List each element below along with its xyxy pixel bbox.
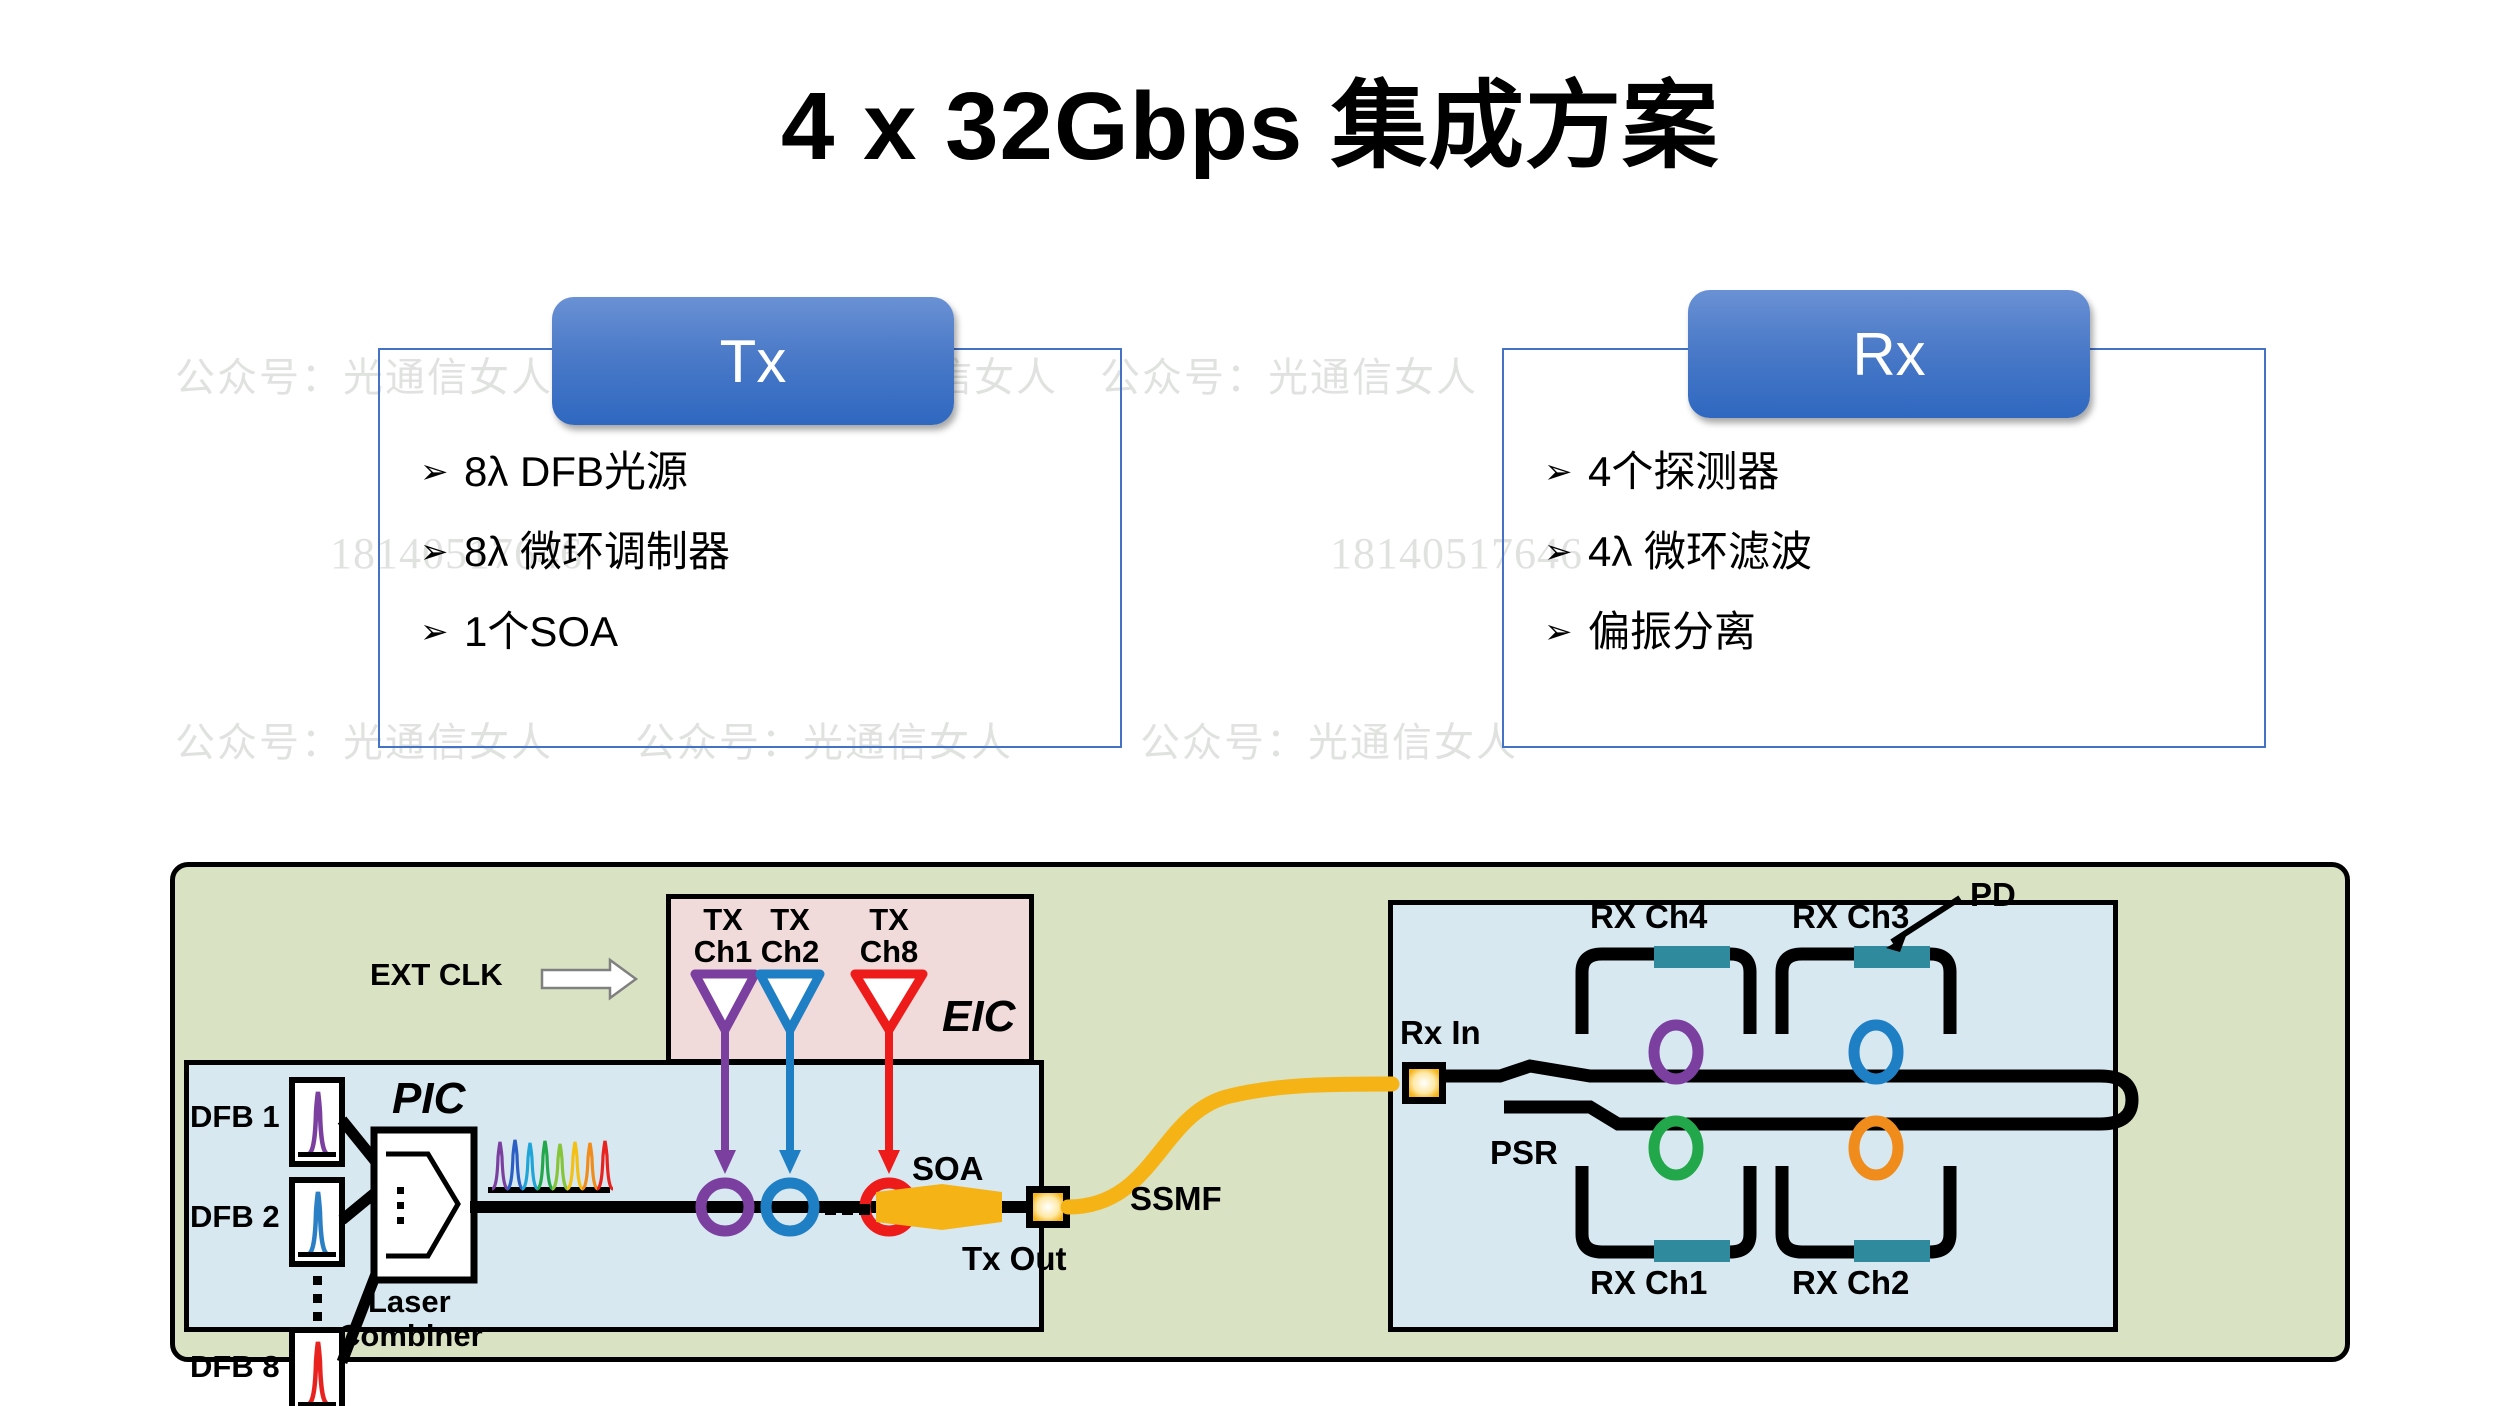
dfb-source-1 bbox=[292, 1080, 342, 1164]
wavelength-comb-spectrum bbox=[488, 1140, 613, 1193]
diagram-graphics bbox=[170, 862, 2350, 1362]
dfb-source-8 bbox=[292, 1330, 342, 1406]
ext-clk-label: EXT CLK bbox=[370, 957, 503, 993]
rx-pill-label: Rx bbox=[1852, 320, 1925, 389]
watermark-text: 公众号：光通信女人 bbox=[1140, 710, 1518, 768]
tx-ch1-label-line2: Ch1 bbox=[690, 934, 756, 970]
page-title: 4 x 32Gbps 集成方案 bbox=[0, 48, 2500, 187]
list-item: ➢ 偏振分离 bbox=[1544, 606, 1812, 658]
soa-label: SOA bbox=[912, 1150, 984, 1188]
tx-item-label: 8λ 微环调制器 bbox=[464, 526, 730, 578]
tx-channel-2 bbox=[760, 974, 820, 1231]
list-item: ➢ 8λ 微环调制器 bbox=[420, 526, 730, 578]
rx-channel-3 bbox=[1782, 946, 1950, 1079]
watermark-text: 公众号：光通信女人 bbox=[1100, 345, 1478, 403]
psr-splitter-rotator bbox=[1446, 1066, 2132, 1124]
arrow-bullet-icon: ➢ bbox=[420, 446, 464, 498]
list-item: ➢ 1个SOA bbox=[420, 606, 730, 658]
tx-pill-header[interactable]: Tx bbox=[552, 297, 954, 425]
eic-label: EIC bbox=[942, 992, 1015, 1042]
dfb-8-label: DFB 8 bbox=[190, 1349, 280, 1385]
rx-item-label: 偏振分离 bbox=[1588, 606, 1756, 658]
arrow-bullet-icon: ➢ bbox=[420, 526, 464, 578]
tx-item-label: 8λ DFB光源 bbox=[464, 446, 688, 498]
tx-ch1-label-line1: TX bbox=[690, 902, 756, 938]
list-item: ➢ 4λ 微环滤波 bbox=[1544, 526, 1812, 578]
tx-item-label: 1个SOA bbox=[464, 606, 618, 658]
vertical-ellipsis-icon bbox=[313, 1276, 322, 1321]
rx-pill-header[interactable]: Rx bbox=[1688, 290, 2090, 418]
tx-channel-1 bbox=[695, 974, 755, 1231]
rx-ch2-label: RX Ch2 bbox=[1792, 1264, 1909, 1302]
rx-ch3-label: RX Ch3 bbox=[1792, 898, 1909, 936]
laser-combiner-icon bbox=[374, 1130, 474, 1280]
pic-label: PIC bbox=[392, 1074, 465, 1124]
horizontal-ellipsis-icon bbox=[825, 1204, 870, 1215]
pd-label: PD bbox=[1970, 876, 2016, 914]
list-item: ➢ 8λ DFB光源 bbox=[420, 446, 730, 498]
dfb-source-2 bbox=[292, 1180, 342, 1264]
rx-bullet-list: ➢ 4个探测器 ➢ 4λ 微环滤波 ➢ 偏振分离 bbox=[1544, 446, 1812, 686]
rx-in-label: Rx In bbox=[1400, 1014, 1481, 1052]
laser-combiner-label-line2: Combiner bbox=[338, 1318, 483, 1354]
rx-item-label: 4个探测器 bbox=[1588, 446, 1779, 498]
tx-ch2-label-line1: TX bbox=[757, 902, 823, 938]
rx-channel-1 bbox=[1582, 1121, 1750, 1262]
tx-ch8-label-line1: TX bbox=[856, 902, 922, 938]
rx-in-coupler-icon bbox=[1402, 1062, 1446, 1104]
tx-bullet-list: ➢ 8λ DFB光源 ➢ 8λ 微环调制器 ➢ 1个SOA bbox=[420, 446, 730, 686]
rx-item-label: 4λ 微环滤波 bbox=[1588, 526, 1812, 578]
arrow-bullet-icon: ➢ bbox=[1544, 606, 1588, 658]
rx-ch4-label: RX Ch4 bbox=[1590, 898, 1707, 936]
architecture-diagram: EXT CLK TX Ch1 TX Ch2 TX Ch8 EIC PIC DFB… bbox=[170, 862, 2350, 1362]
soa-amplifier-icon bbox=[876, 1184, 1028, 1230]
ext-clk-arrow-icon bbox=[542, 960, 636, 998]
list-item: ➢ 4个探测器 bbox=[1544, 446, 1812, 498]
rx-channel-2 bbox=[1782, 1121, 1950, 1262]
arrow-bullet-icon: ➢ bbox=[420, 606, 464, 658]
rx-ch1-label: RX Ch1 bbox=[1590, 1264, 1707, 1302]
tx-out-label: Tx Out bbox=[962, 1240, 1067, 1278]
tx-ch2-label-line2: Ch2 bbox=[757, 934, 823, 970]
rx-channel-4 bbox=[1582, 946, 1750, 1079]
dfb-2-label: DFB 2 bbox=[190, 1199, 280, 1235]
psr-label: PSR bbox=[1490, 1134, 1558, 1172]
dfb-1-label: DFB 1 bbox=[190, 1099, 280, 1135]
arrow-bullet-icon: ➢ bbox=[1544, 526, 1588, 578]
tx-ch8-label-line2: Ch8 bbox=[856, 934, 922, 970]
ssmf-fiber-path bbox=[1068, 1084, 1392, 1207]
arrow-bullet-icon: ➢ bbox=[1544, 446, 1588, 498]
ssmf-label: SSMF bbox=[1130, 1180, 1222, 1218]
laser-combiner-label-line1: Laser bbox=[368, 1284, 451, 1320]
tx-pill-label: Tx bbox=[720, 327, 787, 396]
